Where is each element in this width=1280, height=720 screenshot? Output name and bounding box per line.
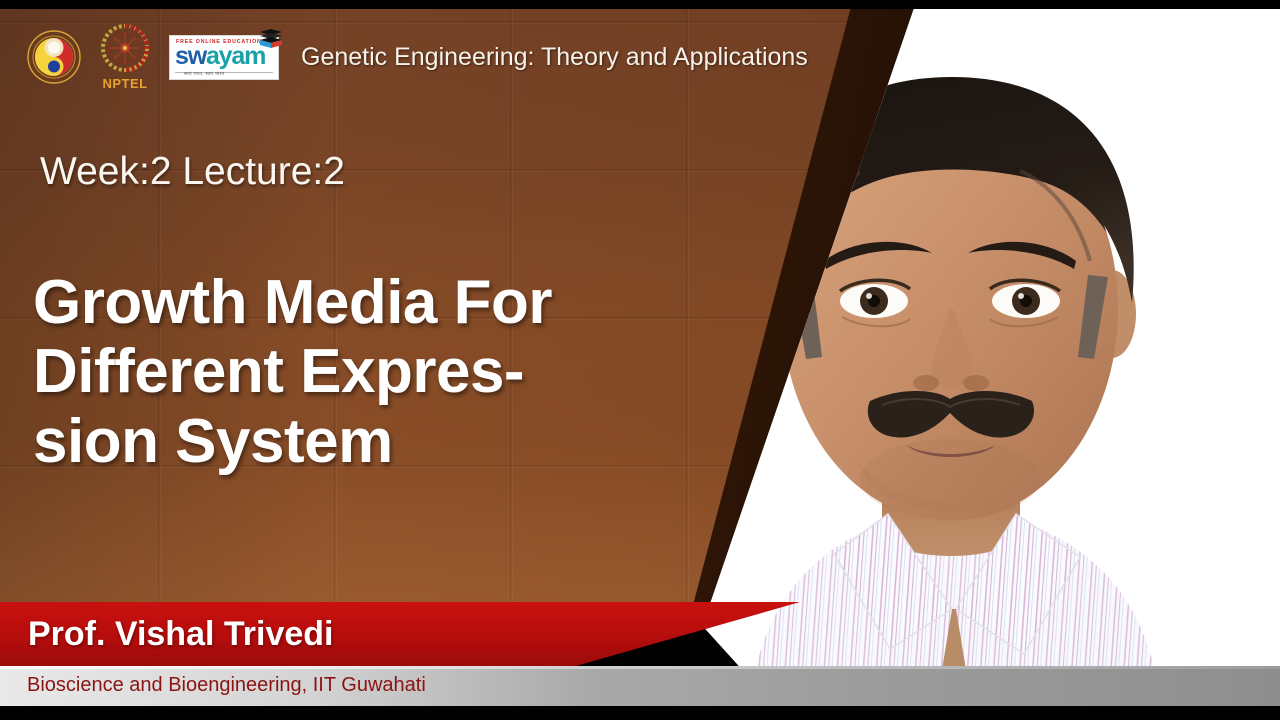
page-title: Growth Media For Different Expres- sion … bbox=[33, 268, 753, 476]
swayam-logo-icon: FREE ONLINE EDUCATION swayam स्वयं भरत, … bbox=[169, 35, 279, 80]
book-icon bbox=[258, 28, 284, 50]
presenter-name: Prof. Vishal Trivedi bbox=[28, 615, 334, 654]
lecture-title-card: NPTEL FREE ONLINE EDUCATION swayam स्वयं… bbox=[0, 0, 1280, 720]
page-title-line-1: Growth Media For bbox=[33, 268, 753, 337]
iit-guwahati-logo-icon bbox=[26, 29, 82, 85]
swayam-wordmark-part2: ayam bbox=[206, 42, 265, 70]
letterbox-top bbox=[0, 0, 1280, 9]
swayam-wordmark-part1: sw bbox=[175, 42, 206, 70]
nptel-wordmark: NPTEL bbox=[94, 76, 156, 91]
presenter-affiliation: Bioscience and Bioengineering, IIT Guwah… bbox=[27, 674, 426, 697]
header-bar: NPTEL FREE ONLINE EDUCATION swayam स्वयं… bbox=[0, 14, 808, 100]
swayam-tagline-bottom: स्वयं भरत, स्वयं भारत bbox=[184, 71, 225, 77]
page-title-line-2: Different Expres- bbox=[33, 337, 753, 406]
page-title-line-3: sion System bbox=[33, 407, 753, 476]
course-title: Genetic Engineering: Theory and Applicat… bbox=[301, 43, 808, 72]
nptel-logo-icon: NPTEL bbox=[94, 24, 156, 90]
swayam-wordmark: swayam bbox=[175, 44, 265, 69]
letterbox-bottom bbox=[0, 706, 1280, 720]
presenter-name-banner-content: Prof. Vishal Trivedi bbox=[0, 602, 620, 666]
week-lecture-label: Week:2 Lecture:2 bbox=[40, 150, 345, 194]
